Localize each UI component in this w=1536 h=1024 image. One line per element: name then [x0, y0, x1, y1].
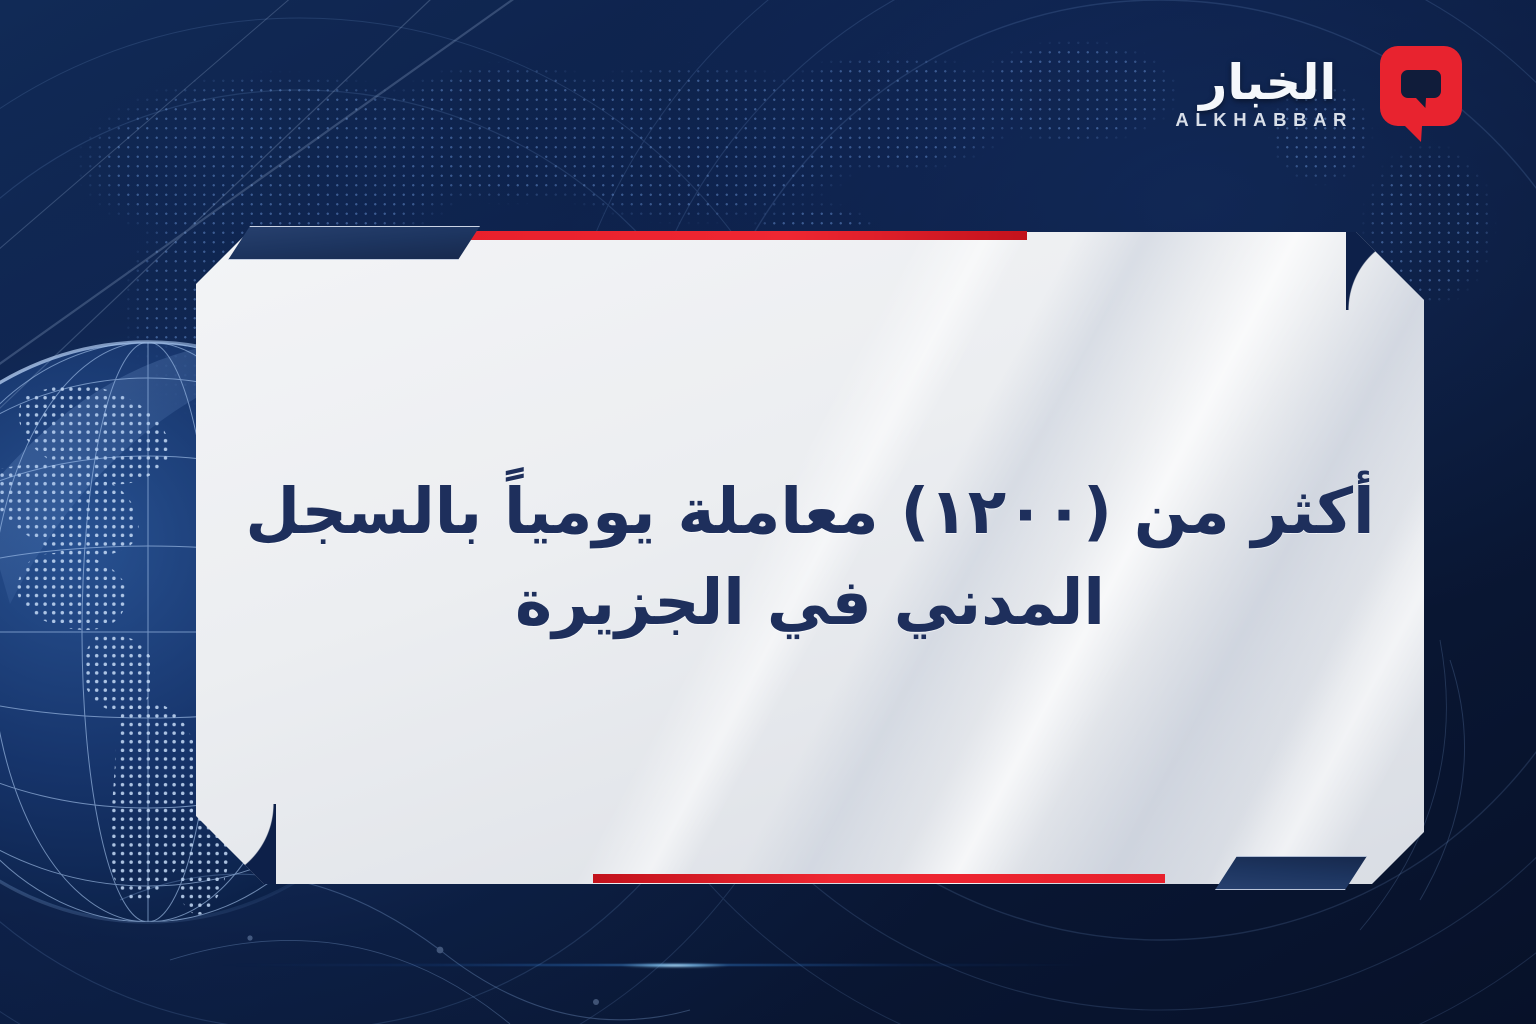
brand-name-arabic: الخبار [1199, 58, 1336, 107]
headline-line-2: المدني في الجزيرة [515, 565, 1105, 642]
news-card-graphic: أكثر من (١٢٠٠) معاملة يومياً بالسجل المد… [0, 0, 1536, 1024]
headline-line-1: أكثر من (١٢٠٠) معاملة يومياً بالسجل [245, 474, 1374, 551]
brand-logo[interactable]: الخبار ALKHABBAR [1175, 44, 1464, 144]
brand-name-latin: ALKHABBAR [1175, 111, 1360, 130]
speech-bubble-icon [1378, 44, 1464, 144]
headline-text-block: أكثر من (١٢٠٠) معاملة يومياً بالسجل المد… [196, 232, 1424, 884]
lens-flare-core-icon [620, 962, 730, 969]
